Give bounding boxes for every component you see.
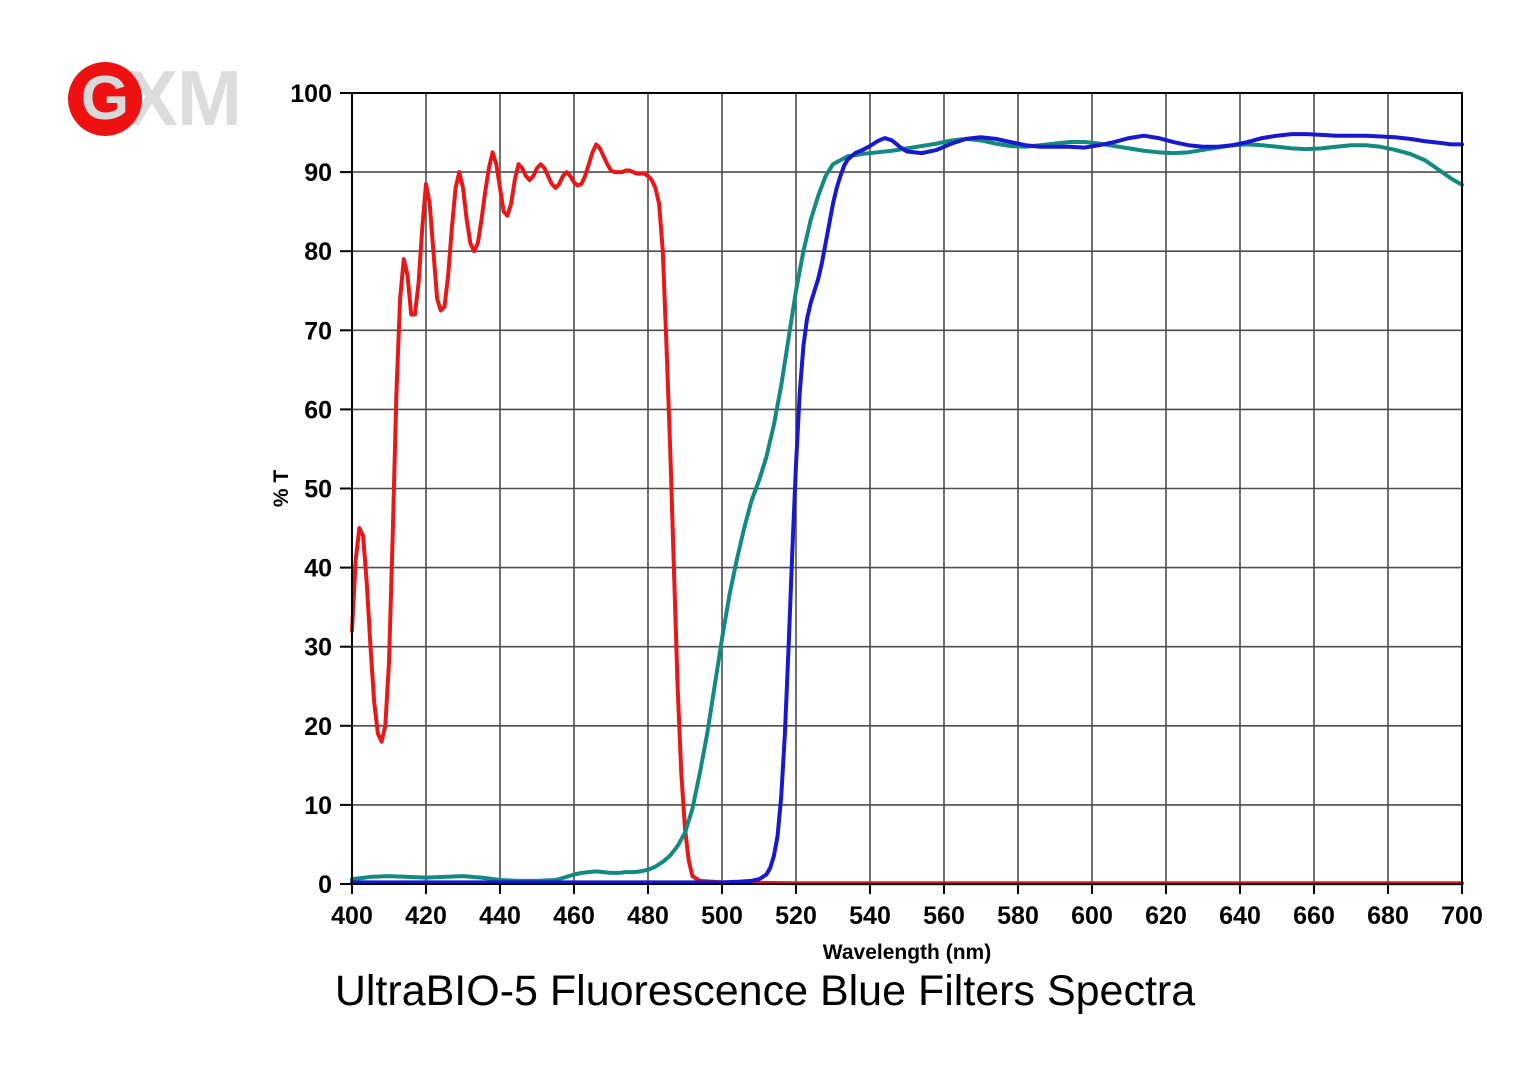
x-tick-label: 660: [1293, 902, 1335, 930]
y-tick-label: 30: [304, 634, 332, 662]
x-tick-label: 440: [479, 902, 521, 930]
y-tick-label: 80: [304, 238, 332, 266]
series-line-1: [352, 144, 1462, 883]
y-tick-label: 10: [304, 792, 332, 820]
series-line-3: [352, 134, 1462, 882]
y-tick-label: 0: [318, 871, 332, 899]
x-tick-label: 700: [1441, 902, 1483, 930]
y-tick-label: 60: [304, 396, 332, 424]
y-tick-label: 40: [304, 555, 332, 583]
x-tick-label: 420: [405, 902, 447, 930]
x-tick-label: 620: [1145, 902, 1187, 930]
x-tick-label: 600: [1071, 902, 1113, 930]
x-tick-label: 500: [701, 902, 743, 930]
x-axis-title: Wavelength (nm): [823, 941, 991, 964]
x-tick-label: 560: [923, 902, 965, 930]
x-tick-label: 680: [1367, 902, 1409, 930]
y-tick-label: 50: [304, 476, 332, 504]
x-tick-label: 400: [331, 902, 373, 930]
gridlines: [352, 93, 1462, 884]
y-tick-label: 20: [304, 713, 332, 741]
x-tick-label: 520: [775, 902, 817, 930]
x-tick-label: 460: [553, 902, 595, 930]
y-tick-label: 70: [304, 317, 332, 345]
x-tick-label: 580: [997, 902, 1039, 930]
chart-title: UltraBIO-5 Fluorescence Blue Filters Spe…: [335, 967, 1195, 1015]
y-tick-label: 100: [290, 80, 332, 108]
y-axis-title: % T: [270, 470, 293, 508]
y-tick-label: 90: [304, 159, 332, 187]
x-tick-label: 480: [627, 902, 669, 930]
series-line-2: [352, 139, 1462, 881]
x-tick-label: 540: [849, 902, 891, 930]
x-tick-label: 640: [1219, 902, 1261, 930]
y-tick-labels: 0102030405060708090100: [290, 80, 332, 899]
spectra-chart: 4004204404604805005205405605806006206406…: [0, 0, 1527, 1080]
data-series: [352, 134, 1462, 883]
chart-svg: 4004204404604805005205405605806006206406…: [0, 0, 1527, 1080]
x-tick-labels: 4004204404604805005205405605806006206406…: [331, 902, 1483, 930]
